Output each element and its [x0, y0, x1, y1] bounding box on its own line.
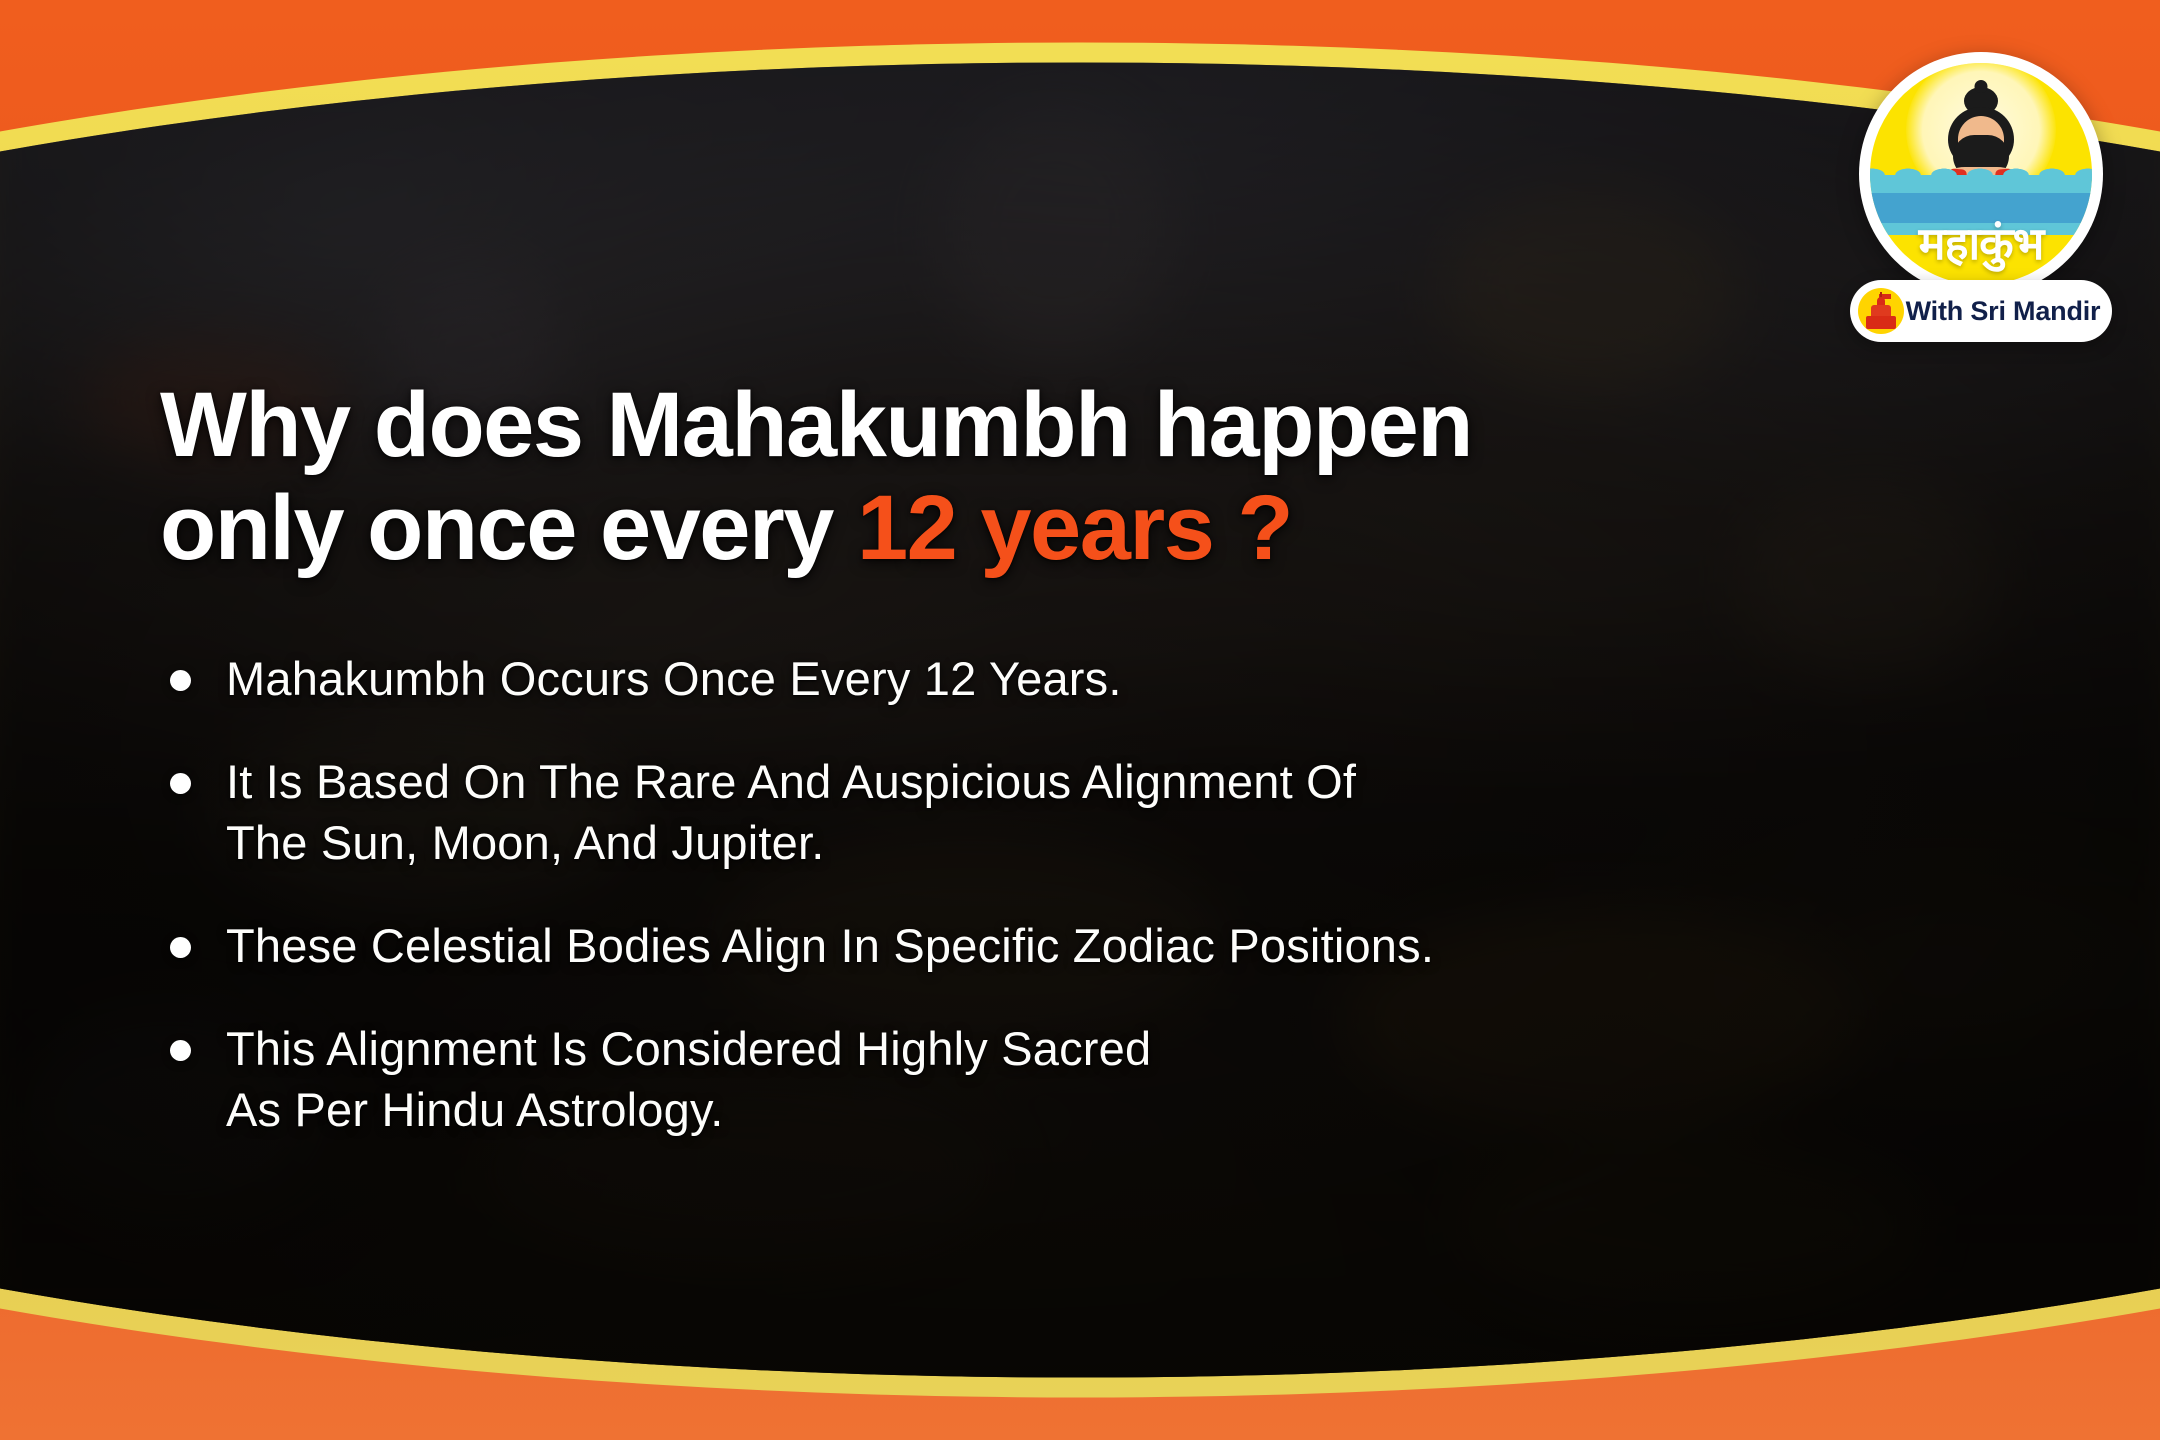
list-item: This Alignment Is Considered Highly Sacr… — [170, 1018, 1970, 1140]
list-item: It Is Based On The Rare And Auspicious A… — [170, 751, 1970, 873]
list-item-text: It Is Based On The Rare And Auspicious A… — [226, 751, 1356, 873]
list-item: These Celestial Bodies Align In Specific… — [170, 915, 1970, 976]
fact-list: Mahakumbh Occurs Once Every 12 Years. It… — [170, 648, 1970, 1183]
bullet-dot-icon — [170, 670, 191, 691]
with-sri-mandir-pill[interactable]: With Sri Mandir — [1850, 280, 2112, 342]
bullet-dot-icon — [170, 1040, 191, 1061]
headline-accent-12-years: 12 years — [857, 477, 1213, 579]
headline-line-2-prefix: only once every — [160, 477, 857, 579]
brand-logo[interactable]: महाकुंभ With Sri Mandir — [1850, 52, 2112, 342]
list-item-text: This Alignment Is Considered Highly Sacr… — [226, 1018, 1151, 1140]
poster-canvas: Why does Mahakumbh happen only once ever… — [0, 0, 2160, 1440]
headline-question-mark: ? — [1213, 477, 1292, 579]
headline-line-2: only once every 12 years ? — [160, 477, 1760, 580]
mahakumbh-hindi-label: महाकुंभ — [1870, 212, 2092, 273]
list-item-line: As Per Hindu Astrology. — [226, 1079, 1151, 1140]
list-item: Mahakumbh Occurs Once Every 12 Years. — [170, 648, 1970, 709]
mahakumbh-badge: महाकुंभ — [1859, 52, 2103, 296]
list-item-line: Mahakumbh Occurs Once Every 12 Years. — [226, 648, 1122, 709]
headline: Why does Mahakumbh happen only once ever… — [160, 374, 1760, 580]
mahakumbh-disc: महाकुंभ — [1870, 63, 2092, 285]
list-item-line: These Celestial Bodies Align In Specific… — [226, 915, 1434, 976]
list-item-line: This Alignment Is Considered Highly Sacr… — [226, 1018, 1151, 1079]
list-item-text: Mahakumbh Occurs Once Every 12 Years. — [226, 648, 1122, 709]
bullet-dot-icon — [170, 937, 191, 958]
list-item-line: The Sun, Moon, And Jupiter. — [226, 812, 1356, 873]
list-item-line: It Is Based On The Rare And Auspicious A… — [226, 751, 1356, 812]
temple-icon — [1858, 288, 1904, 334]
with-sri-mandir-label: With Sri Mandir — [1904, 296, 2112, 327]
list-item-text: These Celestial Bodies Align In Specific… — [226, 915, 1434, 976]
bullet-dot-icon — [170, 773, 191, 794]
headline-line-1: Why does Mahakumbh happen — [160, 374, 1760, 477]
